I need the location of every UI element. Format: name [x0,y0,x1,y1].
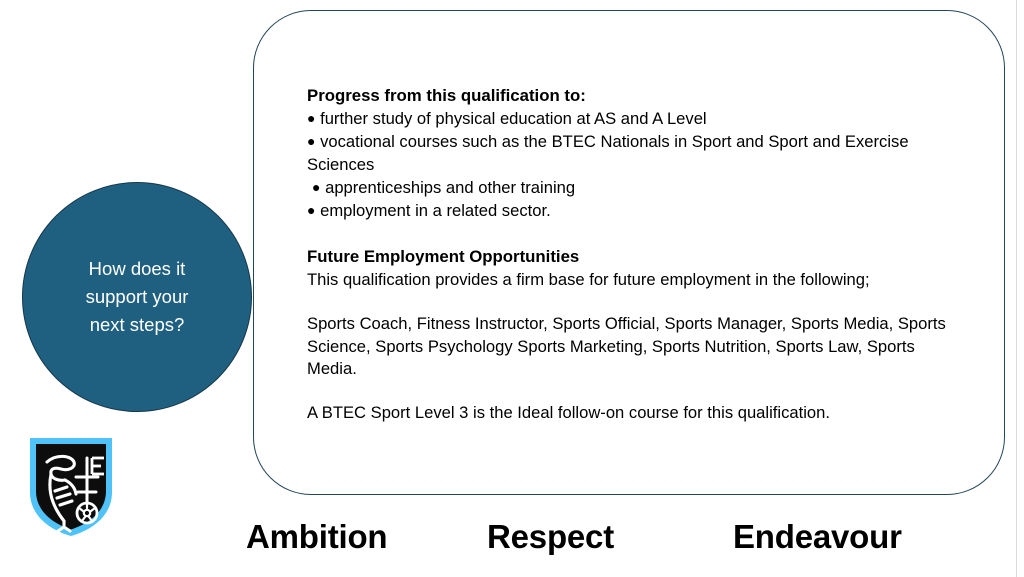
progression-bullet-list: ● further study of physical education at… [307,108,967,222]
list-item-label: employment in a related sector. [320,201,551,220]
motto-word-respect: Respect [487,518,614,556]
list-item-label: apprenticeships and other training [325,178,575,197]
list-item-label: further study of physical education at A… [320,109,707,128]
list-item-label: vocational courses such as the BTEC Nati… [307,132,909,174]
panel-body: Progress from this qualification to: ● f… [307,84,967,425]
list-item: ● further study of physical education at… [307,108,967,131]
employment-heading: Future Employment Opportunities [307,245,967,268]
employment-roles: Sports Coach, Fitness Instructor, Sports… [307,313,967,382]
list-item: ● apprenticeships and other training [307,177,967,200]
bullet-dot-icon: ● [312,179,320,195]
bullet-dot-icon: ● [307,133,315,149]
bullet-dot-icon: ● [307,110,315,126]
list-item: ● employment in a related sector. [307,200,967,223]
right-edge-rule [1016,0,1017,577]
spacer [307,292,967,313]
bullet-dot-icon: ● [307,202,315,218]
slide-canvas: How does it support your next steps? Pro… [0,0,1024,577]
closing-note: A BTEC Sport Level 3 is the Ideal follow… [307,402,967,425]
motto-word-endeavour: Endeavour [733,518,902,556]
progress-heading: Progress from this qualification to: [307,84,967,107]
list-item: ● vocational courses such as the BTEC Na… [307,131,967,177]
employment-intro: This qualification provides a firm base … [307,269,967,292]
question-circle-text: How does it support your next steps? [57,255,217,339]
question-circle: How does it support your next steps? [22,182,252,412]
motto-bar: Ambition Respect Endeavour [0,518,1024,566]
motto-word-ambition: Ambition [246,518,387,556]
spacer [307,381,967,402]
spacer [307,223,967,245]
